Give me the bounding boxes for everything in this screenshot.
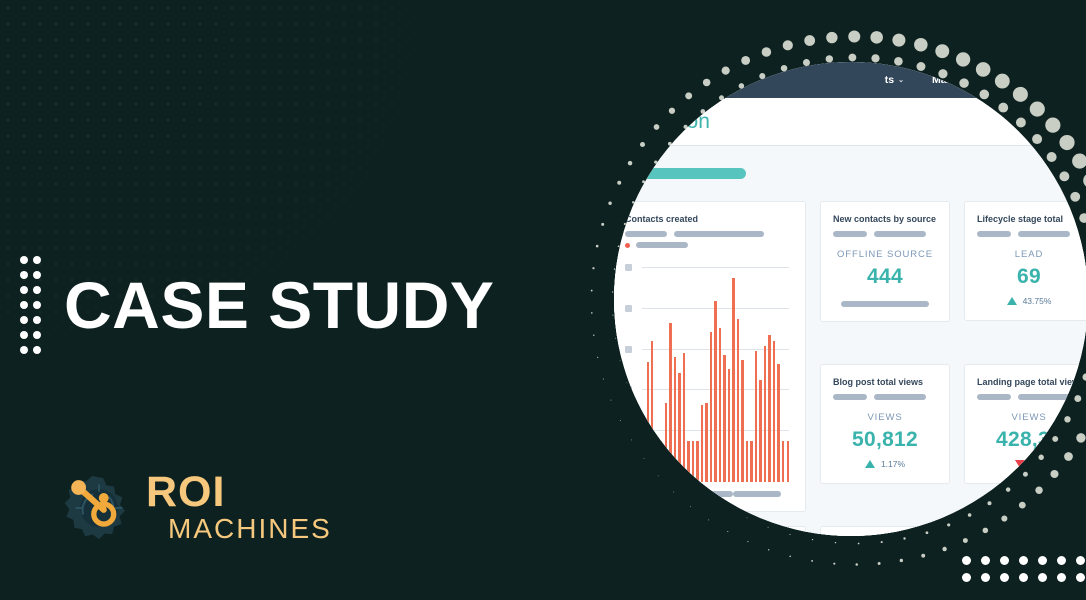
dashboard-nav: ts ⌄ Marketing ⌄ Sales ⌄ Service ⌄ (614, 62, 1086, 98)
chart-bar (678, 373, 680, 482)
ring-dot (597, 357, 598, 358)
chart-bar (701, 405, 703, 482)
gear-sprocket-icon (60, 470, 138, 544)
dashboard-title: neration (634, 110, 710, 134)
chart-bar (746, 441, 748, 482)
decor-dot (20, 316, 28, 324)
skeleton-bar (833, 231, 867, 237)
chart-bar (728, 369, 730, 482)
decor-dot (20, 346, 28, 354)
chart-bar (687, 441, 689, 482)
y-axis-label-skeleton (625, 468, 632, 475)
card-subtitle-skeleton (977, 394, 1081, 400)
chart-bar (741, 360, 743, 482)
chart-bar (737, 319, 739, 482)
skeleton-bar (874, 394, 926, 400)
ring-dot (855, 563, 858, 566)
stat-delta: 2.7 (977, 459, 1081, 469)
skeleton-bar (685, 491, 733, 497)
ring-dot (804, 35, 815, 46)
chevron-down-icon: ⌄ (1051, 76, 1057, 84)
y-axis-label-skeleton (625, 346, 632, 353)
ring-dot (892, 34, 905, 47)
ring-dot (826, 32, 837, 43)
ring-dot (878, 562, 881, 565)
triangle-down-icon (1015, 460, 1025, 468)
decor-dot (981, 573, 990, 582)
stat-value: 428,37 (977, 428, 1081, 452)
chart-bar (773, 341, 775, 482)
chart-bar (710, 332, 712, 482)
decor-dot (20, 286, 28, 294)
ring-dot (848, 54, 856, 62)
ring-dot (914, 38, 928, 52)
decor-dot (1038, 573, 1047, 582)
ring-dot (833, 563, 835, 565)
ring-dot (835, 542, 836, 543)
ring-dot (596, 245, 599, 248)
card-subtitle-skeleton (625, 231, 793, 237)
card-title: New contacts by source (833, 214, 937, 224)
nav-item-marketing[interactable]: Marketing ⌄ (932, 74, 991, 86)
logo-wordmark: ROI MACHINES (146, 471, 332, 543)
chart-legend (625, 242, 793, 248)
circular-screenshot: ts ⌄ Marketing ⌄ Sales ⌄ Service ⌄ nerat… (614, 62, 1086, 536)
ring-dot (848, 31, 860, 43)
decor-dot (20, 271, 28, 279)
chart-bar (692, 441, 694, 482)
chart-bar (782, 441, 784, 482)
stat-label: VIEWS (977, 412, 1081, 423)
stat-value: 50,812 (833, 428, 937, 452)
logo-secondary-text: MACHINES (168, 515, 332, 543)
stat-delta-value: 1.17% (881, 459, 905, 469)
nav-item-label: Sales (1019, 74, 1046, 86)
page-title: CASE STUDY (64, 272, 494, 338)
chart-bar (683, 353, 685, 482)
card-title: Lifecycle stage total (977, 214, 1081, 224)
card-lifecycle-stage-total[interactable]: Lifecycle stage total LEAD 69 43.75% (964, 201, 1086, 321)
skeleton-bar (637, 491, 685, 497)
decor-dot (1076, 573, 1085, 582)
decor-dot (981, 556, 990, 565)
dashboard-header: neration (614, 98, 1086, 146)
skeleton-bar (977, 231, 1011, 237)
card-subtitle-skeleton (833, 231, 937, 237)
ring-dot (942, 547, 946, 551)
ring-dot (881, 541, 883, 543)
chart-bar (759, 380, 761, 482)
legend-color-dot (625, 243, 630, 248)
decor-dot (33, 346, 41, 354)
nav-item-sales[interactable]: Sales ⌄ (1019, 74, 1056, 86)
decor-dot (20, 331, 28, 339)
decor-dot (20, 301, 28, 309)
headline-dot-grid (20, 256, 46, 361)
chart-bar (642, 414, 644, 482)
ring-dot (783, 40, 793, 50)
nav-item-contacts[interactable]: ts ⌄ (885, 74, 904, 86)
card-new-contacts-by-source[interactable]: New contacts by source OFFLINE SOURCE 44… (820, 201, 950, 322)
skeleton-bar (1018, 231, 1070, 237)
ring-dot (768, 549, 769, 550)
chart-bar (674, 357, 676, 482)
chart-bar (669, 323, 671, 482)
triangle-up-icon (865, 460, 875, 468)
card-blog-post-total-views[interactable]: Blog post total views VIEWS 50,812 1.17% (820, 364, 950, 484)
hubspot-dashboard: ts ⌄ Marketing ⌄ Sales ⌄ Service ⌄ nerat… (614, 62, 1086, 536)
stat-delta: 43.75% (977, 296, 1081, 306)
ring-dot (921, 554, 925, 558)
chart-bar (750, 441, 752, 482)
chevron-down-icon: ⌄ (986, 76, 992, 84)
chart-bar (787, 441, 789, 482)
dashboard-card-grid: Contacts created (614, 201, 1086, 536)
ring-dot (601, 223, 604, 226)
stat-skeleton-bar (841, 301, 929, 307)
corner-dot-grid (962, 556, 1086, 590)
skeleton-bar (977, 394, 1011, 400)
stat-label: LEAD (977, 249, 1081, 260)
skeleton-bar (733, 491, 781, 497)
chart-bar (714, 301, 716, 482)
skeleton-bar (833, 394, 867, 400)
y-axis-label-skeleton (625, 386, 632, 393)
decor-dot (1000, 556, 1009, 565)
card-landing-page-total-views[interactable]: Landing page total views VIEWS 428,37 2.… (964, 364, 1086, 484)
skeleton-bar (1018, 394, 1070, 400)
chart-bar (651, 341, 653, 482)
bar-chart (625, 264, 793, 482)
ring-dot (762, 47, 772, 57)
stat-label: OFFLINE SOURCE (833, 249, 937, 260)
chart-bar (768, 335, 770, 482)
card-subtitle-skeleton (833, 394, 937, 400)
stat-delta: 1.17% (833, 459, 937, 469)
decor-dot (962, 573, 971, 582)
decor-dot (1057, 573, 1066, 582)
stat-value: 444 (833, 265, 937, 289)
card-title: Landing page total views (977, 377, 1081, 387)
card-subtitle-skeleton (977, 231, 1081, 237)
ring-dot (592, 267, 594, 269)
ring-dot (591, 312, 593, 314)
ring-dot (591, 290, 593, 292)
brand-logo: ROI MACHINES (60, 470, 332, 544)
chart-gridline-row (625, 264, 789, 271)
nav-item-label: ts (885, 74, 894, 86)
decor-dot (1019, 573, 1028, 582)
stat-delta-value: 43.75% (1023, 296, 1052, 306)
decor-dot (33, 256, 41, 264)
chart-bar (777, 364, 779, 482)
decor-dot (1057, 556, 1066, 565)
active-tab-indicator[interactable] (620, 168, 746, 179)
ring-dot (812, 539, 813, 540)
slide-canvas: CASE STUDY ROI MACHINES (0, 0, 1086, 600)
chart-bar (732, 278, 734, 482)
card-title: Contacts created (625, 214, 793, 224)
ring-dot (603, 378, 604, 379)
decor-dot (1019, 556, 1028, 565)
x-axis-skeleton (625, 491, 793, 497)
chart-bar (723, 355, 725, 482)
chart-bar (660, 441, 662, 482)
chart-bar (647, 362, 649, 482)
y-axis-label-skeleton (625, 305, 632, 312)
card-title: Blog post total views (833, 377, 937, 387)
ring-dot (858, 543, 860, 545)
chart-bar (719, 328, 721, 482)
chart-bar (764, 346, 766, 482)
ring-dot (935, 44, 949, 58)
ring-dot (811, 560, 813, 562)
decor-dot (1038, 556, 1047, 565)
chart-bar (656, 441, 658, 482)
card-contacts-created[interactable]: Contacts created (614, 201, 806, 512)
decor-dot (33, 316, 41, 324)
chart-bar (705, 403, 707, 482)
card-new-contact-conversions[interactable]: New contact conversions by first (820, 526, 1086, 536)
y-axis-label-skeleton (625, 427, 632, 434)
ring-dot (789, 556, 791, 558)
ring-dot (611, 400, 612, 401)
ring-dot (900, 559, 903, 562)
ring-dot (870, 31, 883, 44)
y-axis-label-skeleton (625, 264, 632, 271)
decor-dot (20, 256, 28, 264)
stat-label: VIEWS (833, 412, 937, 423)
decor-dot (33, 271, 41, 279)
triangle-up-icon (1007, 297, 1017, 305)
decor-dot (33, 331, 41, 339)
ring-dot (963, 538, 968, 543)
ring-dot (903, 537, 905, 539)
gridline (642, 267, 789, 268)
skeleton-bar (674, 231, 764, 237)
stat-delta-value: 2.7 (1031, 459, 1043, 469)
ring-dot (593, 335, 594, 336)
chart-bar (696, 441, 698, 482)
decor-dot (1000, 573, 1009, 582)
decor-dot (33, 301, 41, 309)
skeleton-bar (874, 231, 926, 237)
logo-primary-text: ROI (146, 471, 332, 514)
card-partial-total-views[interactable]: total views (614, 526, 806, 536)
skeleton-bar (625, 231, 667, 237)
stat-value: 69 (977, 265, 1081, 289)
ring-dot (608, 201, 611, 204)
chart-bar (665, 403, 667, 482)
nav-item-label: Marketing (932, 74, 982, 86)
chart-bars (642, 278, 789, 482)
decor-dot (962, 556, 971, 565)
decor-dot (33, 286, 41, 294)
skeleton-bar (636, 242, 688, 248)
chevron-down-icon: ⌄ (898, 76, 904, 84)
chart-bar (755, 351, 757, 482)
dashboard-body: Contacts created (614, 146, 1086, 536)
decor-dot (1076, 556, 1085, 565)
ring-dot (747, 541, 748, 542)
